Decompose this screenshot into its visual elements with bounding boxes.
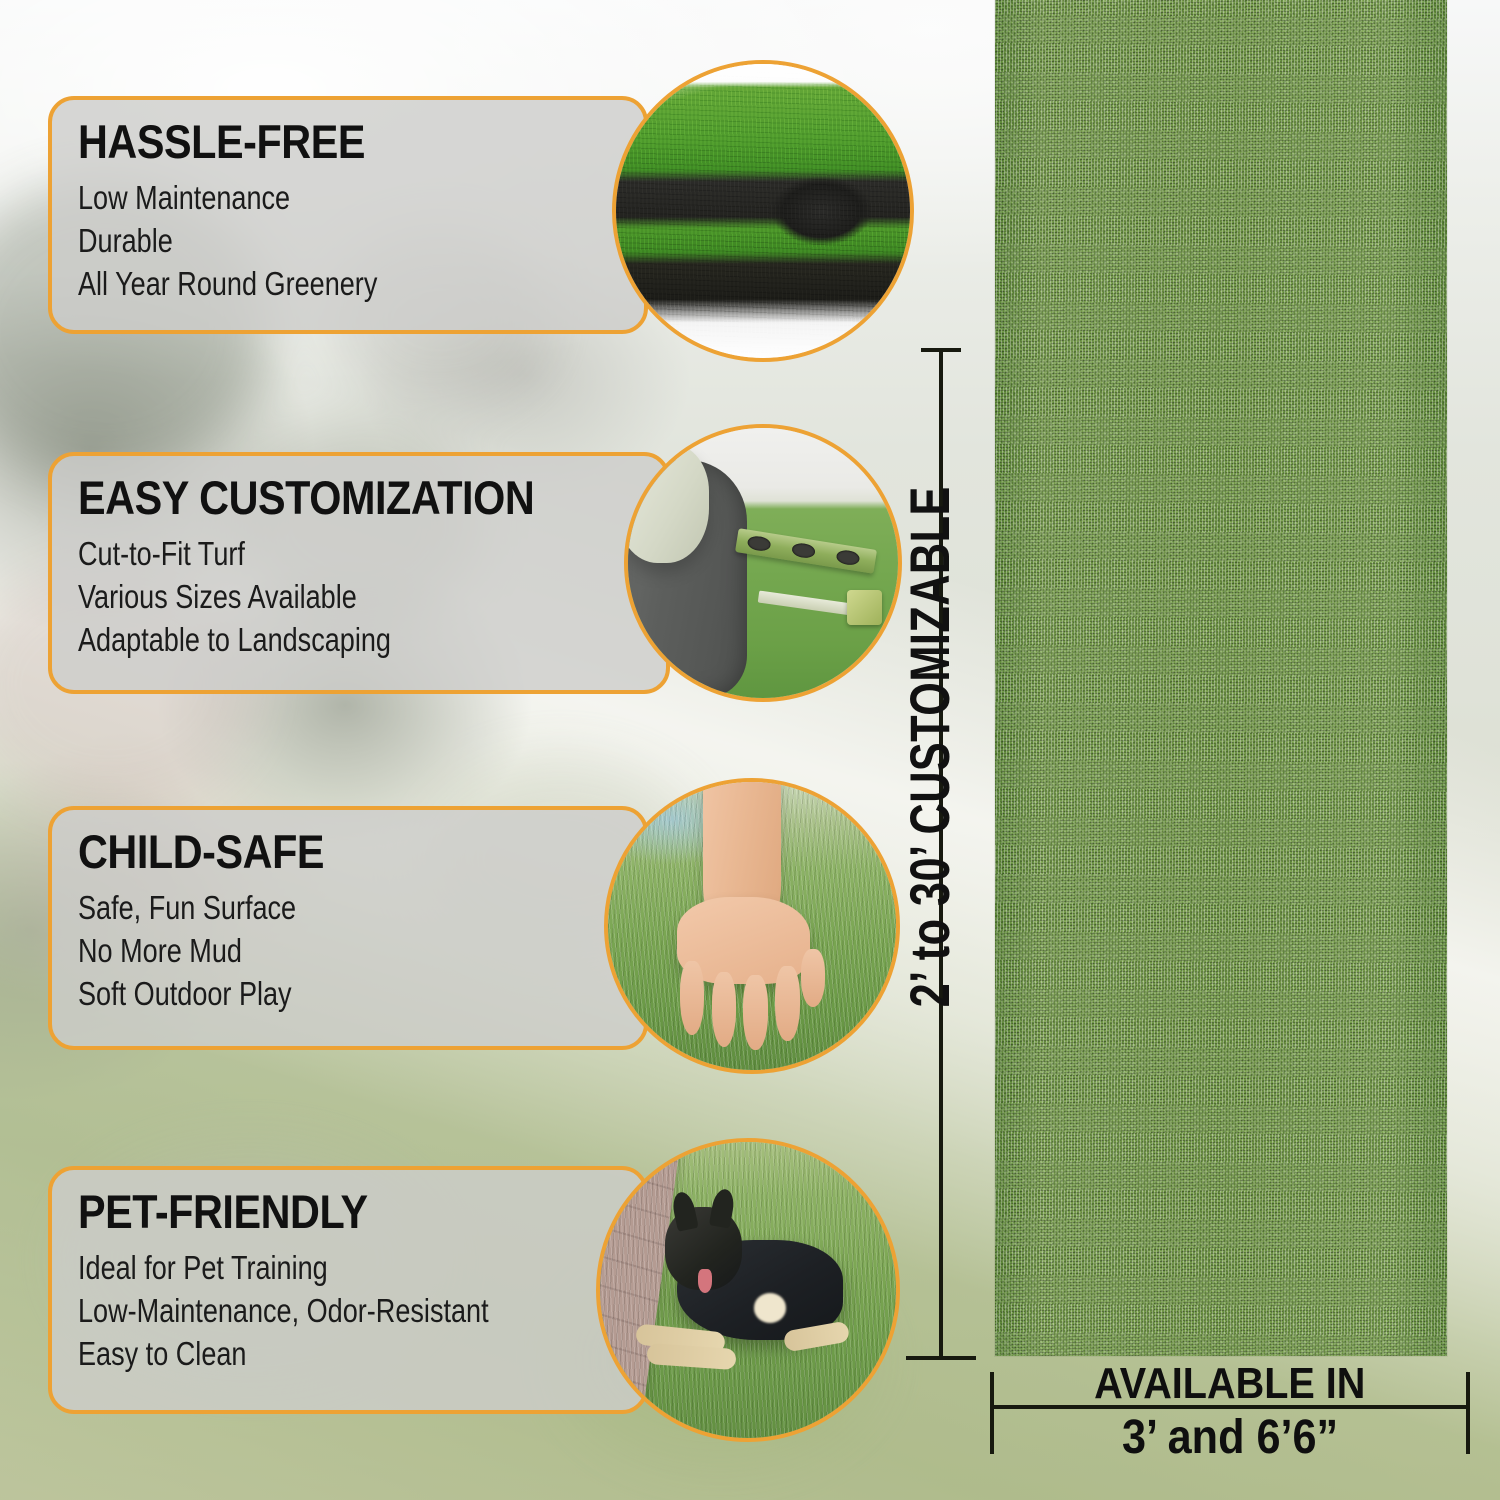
feature-line: Low-Maintenance, Odor-Resistant	[78, 1290, 521, 1333]
feature-line: No More Mud	[78, 930, 521, 973]
child-hand-on-turf-photo	[604, 778, 900, 1074]
width-dimension-block: AVAILABLE IN 3’ and 6’6”	[990, 1362, 1470, 1462]
feature-card-lines: Cut-to-Fit Turf Various Sizes Available …	[78, 533, 640, 662]
feature-card-easy-customization[interactable]: EASY CUSTOMIZATION Cut-to-Fit Turf Vario…	[48, 452, 670, 694]
child-finger	[712, 972, 736, 1047]
feature-card-lines: Safe, Fun Surface No More Mud Soft Outdo…	[78, 887, 618, 1016]
available-sizes-label: 3’ and 6’6”	[990, 1414, 1470, 1462]
feature-line: Low Maintenance	[78, 177, 521, 220]
rolled-turf-mat-photo	[612, 60, 914, 362]
feature-card-title: HASSLE-FREE	[78, 118, 553, 165]
feature-line: Cut-to-Fit Turf	[78, 533, 539, 576]
dog-image	[600, 1142, 896, 1438]
feature-line: Ideal for Pet Training	[78, 1247, 521, 1290]
child-finger	[775, 966, 799, 1041]
length-measure-tick-bottom	[906, 1356, 976, 1360]
feature-card-title: CHILD-SAFE	[78, 828, 553, 875]
level-tool-icon	[735, 528, 877, 574]
turf-installation-photo	[624, 424, 902, 702]
feature-card-lines: Ideal for Pet Training Low-Maintenance, …	[78, 1247, 618, 1376]
child-finger	[680, 961, 704, 1036]
paver-walkway	[596, 1138, 682, 1442]
length-dimension-label: 2’ to 30’ CUSTOMIZABLE	[902, 464, 957, 1030]
available-in-label: AVAILABLE IN	[990, 1362, 1470, 1406]
feature-card-title: EASY CUSTOMIZATION	[78, 474, 573, 521]
tape-measure-body	[847, 590, 882, 625]
installation-image	[628, 428, 898, 698]
child-hand-image	[608, 782, 896, 1070]
feature-line: Easy to Clean	[78, 1333, 521, 1376]
turf-roll-sample	[995, 0, 1447, 1356]
feature-line: Safe, Fun Surface	[78, 887, 521, 930]
dog-on-turf-photo	[596, 1138, 900, 1442]
feature-line: Adaptable to Landscaping	[78, 619, 539, 662]
feature-card-child-safe[interactable]: CHILD-SAFE Safe, Fun Surface No More Mud…	[48, 806, 648, 1050]
child-finger	[743, 975, 767, 1050]
length-measure-tick-top	[921, 348, 961, 352]
feature-line: All Year Round Greenery	[78, 263, 521, 306]
turf-roll-image	[616, 64, 910, 358]
feature-card-pet-friendly[interactable]: PET-FRIENDLY Ideal for Pet Training Low-…	[48, 1166, 648, 1414]
feature-line: Various Sizes Available	[78, 576, 539, 619]
feature-card-title: PET-FRIENDLY	[78, 1188, 553, 1235]
feature-card-hassle-free[interactable]: HASSLE-FREE Low Maintenance Durable All …	[48, 96, 648, 334]
child-thumb	[801, 949, 825, 1007]
feature-card-lines: Low Maintenance Durable All Year Round G…	[78, 177, 618, 306]
dog-chest-marking	[754, 1293, 787, 1323]
feature-line: Soft Outdoor Play	[78, 973, 521, 1016]
feature-line: Durable	[78, 220, 521, 263]
